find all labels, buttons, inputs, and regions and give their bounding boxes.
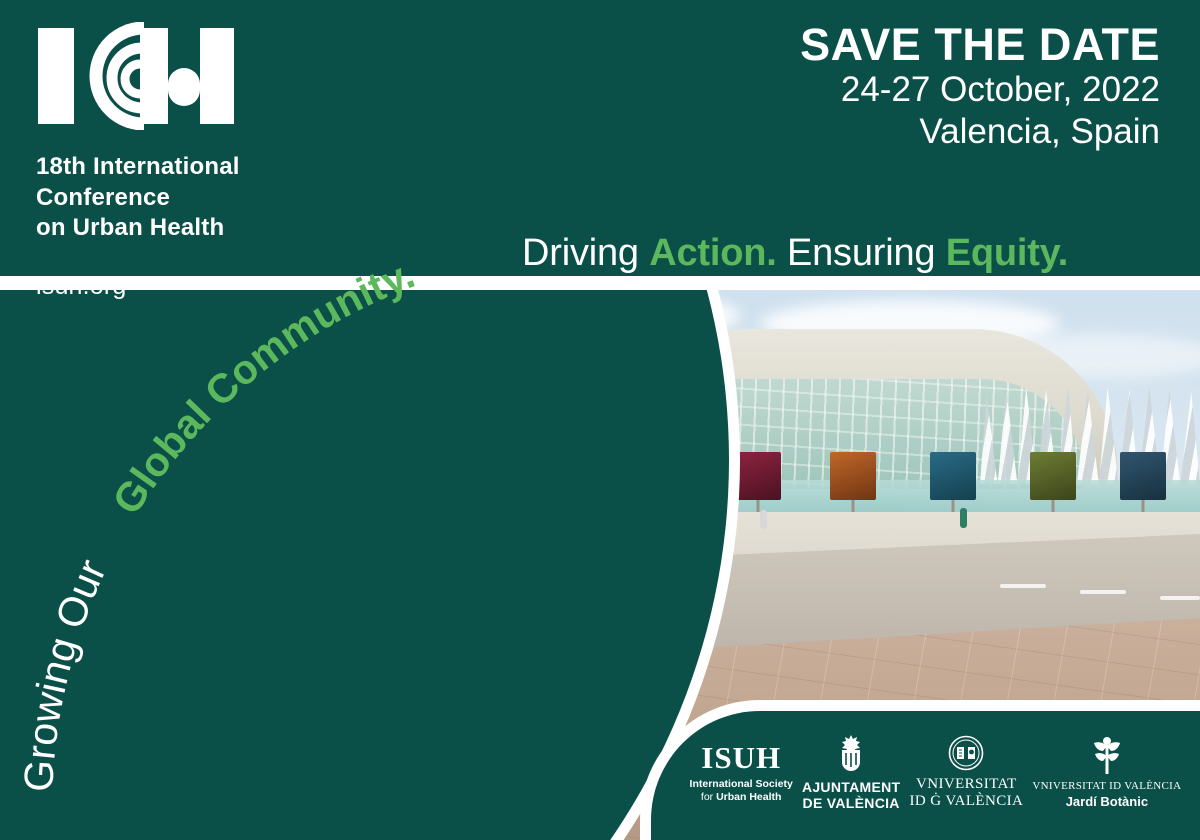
conference-title-line-3: on Urban Health	[36, 213, 336, 244]
tagline-equity: Equity.	[946, 232, 1068, 274]
universitat-name: VNIVERSITAT ID Ġ VALÈNCIA	[909, 776, 1023, 810]
sponsor-isuh[interactable]: ISUH International Society for Urban Hea…	[690, 741, 793, 803]
icuh-logo	[36, 22, 236, 130]
jardi-botanic-name: Jardí Botànic	[1066, 795, 1148, 810]
save-the-date-poster: 18th International Conference on Urban H…	[0, 0, 1200, 840]
website-link[interactable]: isuh.org	[36, 272, 336, 301]
crest-icon	[834, 734, 868, 774]
sponsor-universitat-de-valencia[interactable]: VNIVERSITAT ID Ġ VALÈNCIA	[909, 735, 1023, 810]
brand-block: 18th International Conference on Urban H…	[36, 22, 336, 301]
tagline-action: Action.	[649, 232, 776, 274]
isuh-subtitle-line-1: International Society	[690, 779, 793, 791]
tagline-straight: Driving Action. Ensuring Equity.	[522, 232, 1068, 275]
save-the-date-headline: SAVE THE DATE	[800, 22, 1160, 69]
pedestrian	[760, 510, 767, 529]
tagline-ensuring: Ensuring	[787, 232, 935, 274]
conference-title-line-1: 18th International	[36, 152, 336, 183]
pedestrian	[960, 508, 967, 528]
sponsor-jardi-botanic[interactable]: VNIVERSITAT ID VALÈNCIA Jardí Botànic	[1032, 736, 1181, 810]
tagline-driving: Driving	[522, 232, 639, 274]
sponsor-ajuntament-de-valencia[interactable]: AJUNTAMENT DE VALÈNCIA	[802, 734, 900, 811]
ajuntament-name: AJUNTAMENT DE VALÈNCIA	[802, 780, 900, 811]
conference-location: Valencia, Spain	[800, 111, 1160, 154]
conference-title-line-2: Conference	[36, 183, 336, 214]
conference-dates: 24-27 October, 2022	[800, 69, 1160, 112]
save-the-date-block: SAVE THE DATE 24-27 October, 2022 Valenc…	[800, 22, 1160, 154]
conference-title: 18th International Conference on Urban H…	[36, 152, 336, 244]
sponsor-logos-bar: ISUH International Society for Urban Hea…	[640, 700, 1200, 840]
isuh-subtitle-line-2: for Urban Health	[701, 792, 782, 804]
jardi-botanic-parent: VNIVERSITAT ID VALÈNCIA	[1032, 780, 1181, 792]
leaf-icon	[1092, 736, 1122, 774]
isuh-wordmark: ISUH	[701, 741, 781, 776]
seal-icon	[948, 735, 984, 771]
